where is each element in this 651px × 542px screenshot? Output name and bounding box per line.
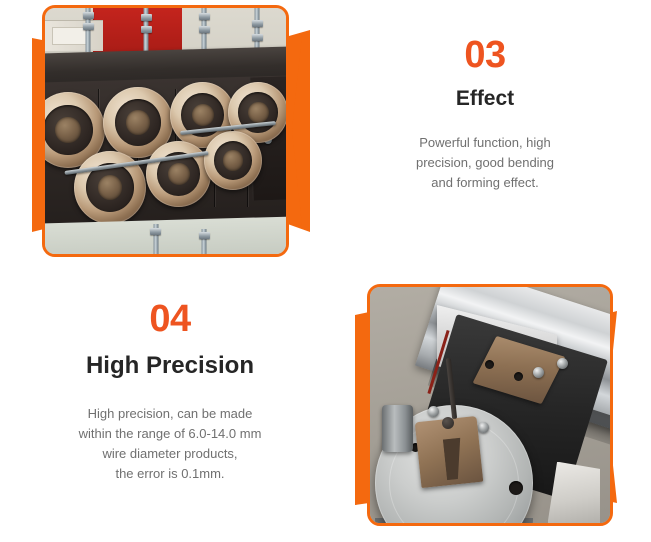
wire-straightening-roller-head-photo: [45, 8, 286, 254]
feature-effect-number: 03: [345, 36, 625, 74]
feature-high-precision-heading: High Precision: [25, 354, 315, 378]
feature-effect-text-block: 03 Effect Powerful function, high precis…: [345, 36, 625, 193]
feature-effect-photo-tile: [10, 0, 310, 262]
feature-high-precision-number: 04: [25, 300, 315, 338]
feature-high-precision-photo-tile: [335, 279, 645, 535]
feature-high-precision-description: High precision, can be made within the r…: [25, 404, 315, 485]
feature-high-precision-description-line: the error is 0.1mm.: [25, 464, 315, 484]
feature-grid-page: 03 Effect Powerful function, high precis…: [0, 0, 651, 542]
feature-effect-heading: Effect: [345, 88, 625, 109]
feature-effect-image-frame: [42, 5, 289, 257]
feature-high-precision-image-frame: [367, 284, 613, 526]
bending-disc-photo: [370, 287, 610, 523]
feature-high-precision-text-block: 04 High Precision High precision, can be…: [25, 300, 315, 485]
feature-high-precision-description-line: High precision, can be made: [25, 404, 315, 424]
feature-effect-description-line: precision, good bending: [345, 153, 625, 173]
feature-effect-description-line: Powerful function, high: [345, 133, 625, 153]
feature-high-precision-description-line: within the range of 6.0-14.0 mm: [25, 424, 315, 444]
feature-effect-description-line: and forming effect.: [345, 173, 625, 193]
feature-high-precision-description-line: wire diameter products,: [25, 444, 315, 464]
feature-effect-description: Powerful function, high precision, good …: [345, 133, 625, 193]
